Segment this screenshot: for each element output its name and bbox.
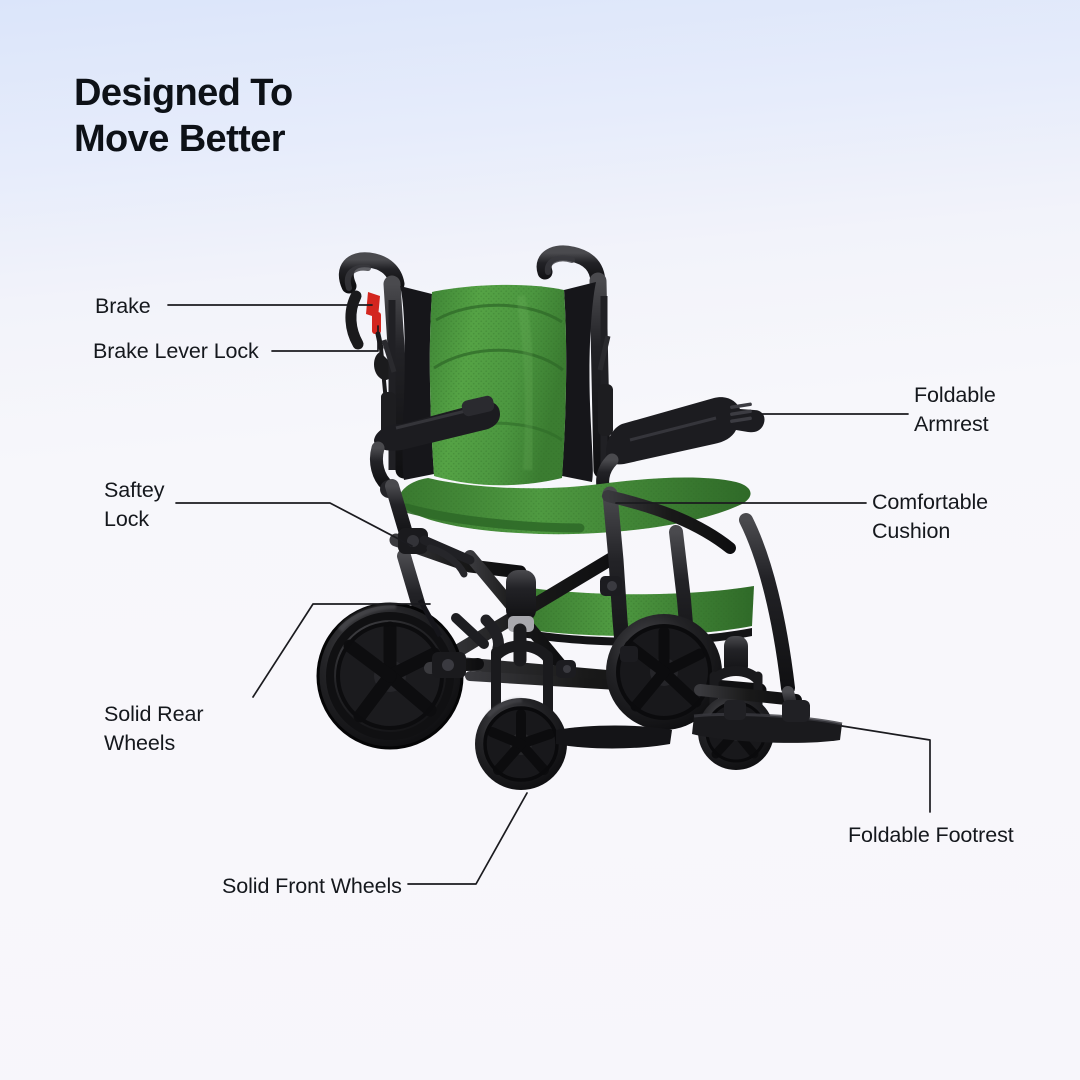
callout-label-front-wheels[interactable]: Solid Front Wheels bbox=[222, 872, 402, 901]
callout-label-rear-wheels[interactable]: Solid Rear Wheels bbox=[104, 700, 203, 758]
callout-label-safety-lock[interactable]: Saftey Lock bbox=[104, 476, 164, 534]
callout-label-brake[interactable]: Brake bbox=[95, 292, 151, 321]
callout-label-footrest[interactable]: Foldable Footrest bbox=[848, 821, 1014, 850]
callout-label-brake-lock[interactable]: Brake Lever Lock bbox=[93, 337, 259, 366]
infographic-canvas: Designed To Move Better bbox=[0, 0, 1080, 1080]
callout-label-armrest[interactable]: Foldable Armrest bbox=[914, 381, 996, 439]
callout-label-cushion[interactable]: Comfortable Cushion bbox=[872, 488, 988, 546]
